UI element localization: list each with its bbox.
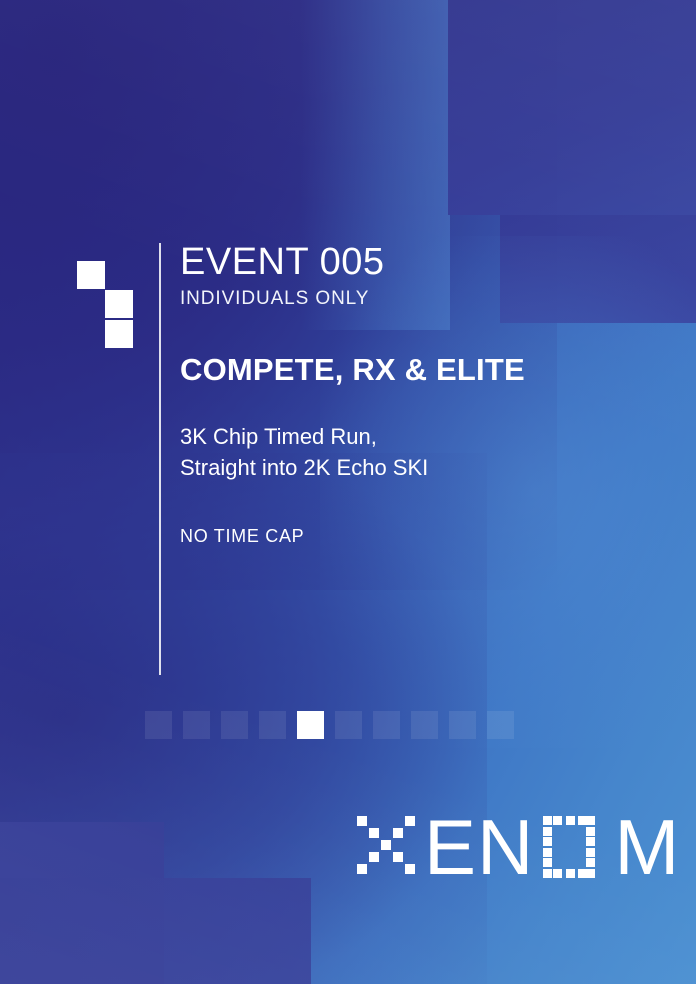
pixel-o-dash <box>586 858 595 867</box>
event-subtitle: INDIVIDUALS ONLY <box>180 288 650 310</box>
square-strip-cell <box>183 711 210 739</box>
pixel-x-dot <box>357 816 367 826</box>
square-strip <box>145 711 514 739</box>
pixel-o-dash <box>553 816 562 825</box>
brand-mark-square-2 <box>105 290 133 318</box>
pixel-x-dot <box>369 828 379 838</box>
event-poster: EVENT 005 INDIVIDUALS ONLY COMPETE, RX &… <box>0 0 696 984</box>
wordmark-pixel-o-icon <box>543 816 605 880</box>
pixel-o-dash <box>586 837 595 846</box>
pixel-o-dash <box>543 869 552 878</box>
pixel-o-dash <box>566 869 575 878</box>
square-strip-cell <box>145 711 172 739</box>
workout-line-1: 3K Chip Timed Run, <box>180 421 650 452</box>
brand-mark-icon <box>77 261 137 351</box>
pixel-x-dot <box>369 852 379 862</box>
background-panel-top-right <box>448 0 696 215</box>
pixel-x-dot <box>405 816 415 826</box>
pixel-o-dash <box>543 816 552 825</box>
wordmark-letter-m: M <box>614 816 680 880</box>
pixel-o-dash <box>586 816 595 825</box>
divisions-heading: COMPETE, RX & ELITE <box>180 352 650 388</box>
pixel-o-dash <box>586 869 595 878</box>
time-cap-note: NO TIME CAP <box>180 526 650 547</box>
brand-mark-square-3 <box>105 320 133 348</box>
square-strip-cell <box>449 711 476 739</box>
pixel-o-dash <box>586 827 595 836</box>
pixel-o-dash <box>553 869 562 878</box>
square-strip-cell <box>335 711 362 739</box>
poster-copy: EVENT 005 INDIVIDUALS ONLY COMPETE, RX &… <box>180 243 650 547</box>
event-title: EVENT 005 <box>180 243 650 283</box>
background-step-bottom-left-lower <box>0 878 311 984</box>
pixel-o-dash <box>543 827 552 836</box>
pixel-o-dash <box>578 869 587 878</box>
brand-mark-square-1 <box>77 261 105 289</box>
pixel-x-dot <box>393 852 403 862</box>
pixel-o-dash <box>543 858 552 867</box>
pixel-o-dash <box>578 816 587 825</box>
square-strip-cell <box>411 711 438 739</box>
pixel-x-dot <box>393 828 403 838</box>
wordmark-letters-en: EN <box>424 816 534 880</box>
square-strip-cell <box>297 711 324 739</box>
workout-description: 3K Chip Timed Run, Straight into 2K Echo… <box>180 421 650 483</box>
pixel-o-dash <box>543 848 552 857</box>
xenom-wordmark: EN M <box>357 808 680 880</box>
wordmark-pixel-x-icon <box>357 816 415 880</box>
pixel-x-dot <box>405 864 415 874</box>
pixel-o-dash <box>586 848 595 857</box>
workout-line-2: Straight into 2K Echo SKI <box>180 452 650 483</box>
pixel-x-dot <box>381 840 391 850</box>
pixel-x-dot <box>357 864 367 874</box>
vertical-divider <box>159 243 161 675</box>
pixel-o-dash <box>566 816 575 825</box>
pixel-o-dash <box>543 837 552 846</box>
square-strip-cell <box>221 711 248 739</box>
square-strip-cell <box>259 711 286 739</box>
square-strip-cell <box>373 711 400 739</box>
square-strip-cell <box>487 711 514 739</box>
